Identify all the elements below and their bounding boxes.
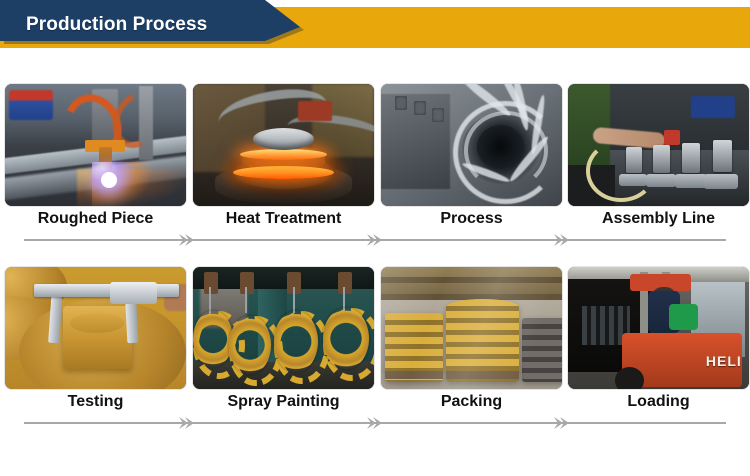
photo-detail-hook-chain xyxy=(293,287,295,314)
process-image-heat-treatment[interactable] xyxy=(193,84,374,206)
page-title: Production Process xyxy=(26,8,207,41)
photo-detail-blue-bin xyxy=(691,96,734,118)
process-image-testing[interactable] xyxy=(5,267,186,389)
photo-detail-sprocket xyxy=(193,311,233,367)
chevron-right-icon xyxy=(552,415,570,431)
process-label-spray-painting: Spray Painting xyxy=(193,389,374,415)
process-label-assembly-line: Assembly Line xyxy=(568,206,749,232)
process-image-assembly-line[interactable] xyxy=(568,84,749,206)
photo-detail-arc-glow xyxy=(101,172,117,188)
photo-packing xyxy=(381,267,562,389)
chevron-right-icon xyxy=(177,415,195,431)
process-label-roughed-piece: Roughed Piece xyxy=(5,206,186,232)
photo-detail-part xyxy=(682,143,700,173)
photo-detail-part xyxy=(653,145,670,173)
photo-detail-bolt xyxy=(432,108,444,122)
photo-detail-sprocket xyxy=(274,311,317,372)
photo-detail-flange xyxy=(619,174,647,186)
photo-heat-treatment xyxy=(193,84,374,206)
photo-detail-forklift-seat xyxy=(669,304,698,331)
photo-detail-caliper-beam xyxy=(34,284,179,297)
photo-spray-painting xyxy=(193,267,374,389)
process-row-2-labels: Testing Spray Painting Packing Loading xyxy=(0,389,750,415)
process-image-loading[interactable]: HELI xyxy=(568,267,749,389)
photo-detail-bright-bore xyxy=(253,128,315,150)
photo-assembly-line xyxy=(568,84,749,206)
photo-detail-part xyxy=(713,140,732,172)
photo-detail-bolt xyxy=(414,101,426,115)
page-header: Production Process xyxy=(0,0,750,56)
photo-detail-air-hose xyxy=(586,140,656,202)
process-label-heat-treatment: Heat Treatment xyxy=(193,206,374,232)
photo-detail-sprocket xyxy=(229,316,271,375)
chevron-right-icon xyxy=(365,415,383,431)
process-row-1-labels: Roughed Piece Heat Treatment Process Ass… xyxy=(0,206,750,232)
process-label-loading: Loading xyxy=(568,389,749,415)
chevron-right-icon xyxy=(177,232,195,248)
process-image-packing[interactable] xyxy=(381,267,562,389)
process-label-testing: Testing xyxy=(5,389,186,415)
photo-detail-part xyxy=(626,147,642,173)
process-row-2-flow-line xyxy=(0,415,750,431)
process-label-packing: Packing xyxy=(381,389,562,415)
process-image-roughed-piece[interactable] xyxy=(5,84,186,206)
photo-detail-red-tool xyxy=(664,130,680,145)
photo-machining xyxy=(381,84,562,206)
photo-loading: HELI xyxy=(568,267,749,389)
photo-plasma-cutting xyxy=(5,84,186,206)
process-row-1-images xyxy=(0,84,750,206)
photo-detail-casting-boss xyxy=(70,313,124,333)
photo-detail-machine-panel xyxy=(9,90,53,120)
photo-detail-bolt xyxy=(395,96,407,110)
photo-detail-spark-burst xyxy=(92,162,152,206)
chevron-right-icon xyxy=(552,232,570,248)
process-image-process[interactable] xyxy=(381,84,562,206)
photo-detail-glowing-ring-upper xyxy=(240,149,327,160)
photo-detail-hook-chain xyxy=(245,287,247,314)
process-row-2: HELI Testing Spray Painting Packing Load… xyxy=(0,267,750,431)
process-row-1: Roughed Piece Heat Treatment Process Ass… xyxy=(0,84,750,248)
photo-detail-plastic-wrap-sheen xyxy=(381,267,562,389)
photo-detail-caliper-slider xyxy=(110,282,157,304)
photo-detail-flange xyxy=(675,174,707,188)
photo-detail-forklift-wheel xyxy=(615,367,644,389)
forklift-brand-text: HELI xyxy=(706,353,742,369)
photo-testing xyxy=(5,267,186,389)
chevron-right-icon xyxy=(365,232,383,248)
photo-detail-terminal-block xyxy=(298,101,332,121)
process-row-2-images: HELI xyxy=(0,267,750,389)
process-image-spray-painting[interactable] xyxy=(193,267,374,389)
photo-detail-flange xyxy=(704,174,738,189)
photo-detail-sprocket xyxy=(323,308,368,369)
process-label-process: Process xyxy=(381,206,562,232)
process-row-1-flow-line xyxy=(0,232,750,248)
photo-detail-flange xyxy=(646,174,676,187)
photo-detail-hook-chain xyxy=(209,287,211,314)
